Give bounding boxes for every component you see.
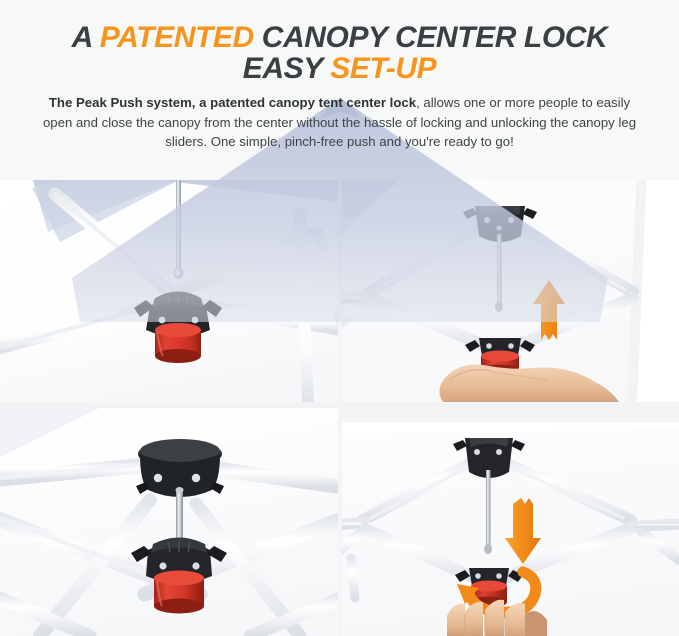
lock-base-red <box>154 571 204 614</box>
headline-text-b: CANOPY CENTER LOCK <box>254 21 608 54</box>
grid-column-divider <box>338 180 342 636</box>
lock-base <box>155 323 201 363</box>
infographic-page: A PATENTED CANOPY CENTER LOCK EASY SET-U… <box>0 0 679 636</box>
description-paragraph: The Peak Push system, a patented canopy … <box>0 84 679 152</box>
headline-text-a: A <box>72 21 100 54</box>
header-section: A PATENTED CANOPY CENTER LOCK EASY SET-U… <box>0 0 679 180</box>
panel-bottom-left <box>0 408 341 636</box>
panel-top-right <box>341 180 679 402</box>
chrome-rod <box>497 234 502 306</box>
panel-top-left <box>0 180 341 402</box>
panel-bottom-right <box>341 408 679 636</box>
description-lead: The Peak Push system, a patented canopy … <box>49 95 416 110</box>
headline-accent-patented: PATENTED <box>100 21 254 54</box>
headline-accent-setup: SET-UP <box>330 52 436 85</box>
headline-text-easy: EASY <box>243 52 331 85</box>
page-title: A PATENTED CANOPY CENTER LOCK EASY SET-U… <box>0 0 679 84</box>
photo-grid <box>0 180 679 636</box>
chrome-rod <box>486 470 491 548</box>
headline-line-2: EASY SET-UP <box>0 53 679 84</box>
push-rod <box>176 180 181 272</box>
description-closing: One simple, pinch-free push and you're r… <box>211 134 514 149</box>
headline-line-1: A PATENTED CANOPY CENTER LOCK <box>0 0 679 53</box>
